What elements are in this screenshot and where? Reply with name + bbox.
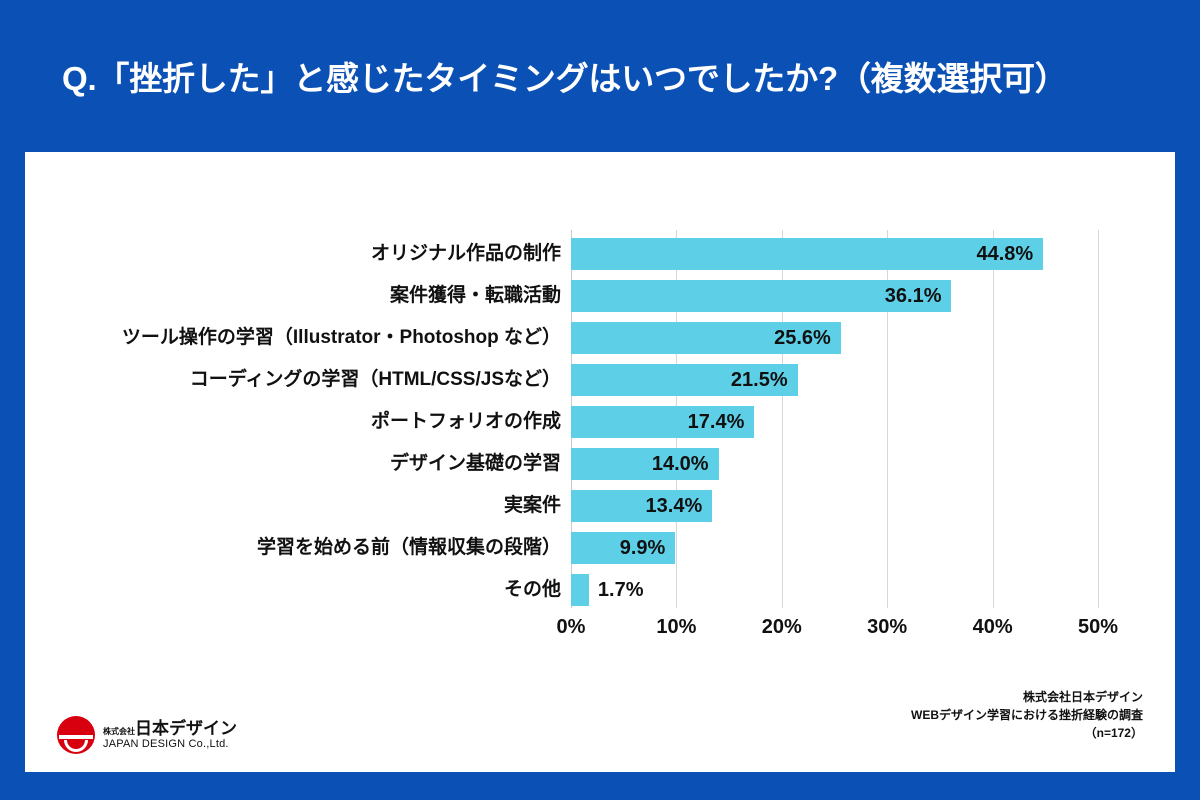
bar[interactable] [571, 574, 589, 606]
category-label: ポートフォリオの作成 [371, 406, 561, 438]
x-tick-label: 20% [762, 616, 802, 639]
plot-area: オリジナル作品の制作44.8%案件獲得・転職活動36.1%ツール操作の学習（Il… [571, 230, 1098, 608]
bar-row[interactable]: その他1.7% [571, 574, 589, 606]
bar-value-label: 21.5% [731, 364, 788, 396]
bar-row[interactable]: 実案件13.4% [571, 490, 712, 522]
bar-value-label: 17.4% [688, 406, 745, 438]
footer-sample-size: （n=172） [911, 724, 1143, 742]
bar-row[interactable]: オリジナル作品の制作44.8% [571, 238, 1043, 270]
bar-row[interactable]: コーディングの学習（HTML/CSS/JSなど）21.5% [571, 364, 798, 396]
company-logo: 株式会社日本デザイン JAPAN DESIGN Co.,Ltd. [57, 716, 237, 754]
x-tick-label: 50% [1078, 616, 1118, 639]
category-label: コーディングの学習（HTML/CSS/JSなど） [190, 364, 561, 396]
category-label: 実案件 [504, 490, 561, 522]
bar-row[interactable]: ポートフォリオの作成17.4% [571, 406, 754, 438]
category-label: 案件獲得・転職活動 [390, 280, 561, 312]
x-tick-label: 10% [656, 616, 696, 639]
category-label: 学習を始める前（情報収集の段階） [257, 532, 561, 564]
bar-value-label: 14.0% [652, 448, 709, 480]
bar-row[interactable]: ツール操作の学習（Illustrator・Photoshop など）25.6% [571, 322, 841, 354]
gridline-50% [1098, 230, 1099, 608]
logo-text: 株式会社日本デザイン JAPAN DESIGN Co.,Ltd. [103, 719, 237, 751]
footer-company: 株式会社日本デザイン [911, 688, 1143, 706]
bar-row[interactable]: 案件獲得・転職活動36.1% [571, 280, 951, 312]
bar-row[interactable]: デザイン基礎の学習14.0% [571, 448, 719, 480]
logo-company-name: 日本デザイン [135, 719, 237, 738]
bar-value-label: 13.4% [646, 490, 703, 522]
bar-value-label: 36.1% [885, 280, 942, 312]
category-label: デザイン基礎の学習 [390, 448, 561, 480]
gridline-40% [993, 230, 994, 608]
bar-value-label: 25.6% [774, 322, 831, 354]
category-label: その他 [504, 574, 561, 606]
footer-survey: WEBデザイン学習における挫折経験の調査 [911, 706, 1143, 724]
japan-design-logo-icon [57, 716, 95, 754]
bar-value-label: 44.8% [976, 238, 1033, 270]
slide-root: Q.「挫折した」と感じたタイミングはいつでしたか?（複数選択可） オリジナル作品… [0, 0, 1200, 800]
title-band: Q.「挫折した」と感じたタイミングはいつでしたか?（複数選択可） [0, 0, 1200, 152]
category-label: オリジナル作品の制作 [371, 238, 561, 270]
logo-band-shape [59, 735, 93, 739]
logo-prefix: 株式会社 [103, 727, 135, 736]
logo-name-en: JAPAN DESIGN Co.,Ltd. [103, 738, 237, 751]
bar-row[interactable]: 学習を始める前（情報収集の段階）9.9% [571, 532, 675, 564]
bar-chart: オリジナル作品の制作44.8%案件獲得・転職活動36.1%ツール操作の学習（Il… [25, 152, 1175, 772]
x-tick-label: 0% [557, 616, 586, 639]
chart-card: オリジナル作品の制作44.8%案件獲得・転職活動36.1%ツール操作の学習（Il… [25, 152, 1175, 772]
logo-bowl-shape [64, 740, 88, 752]
bar-value-label: 9.9% [620, 532, 666, 564]
footer-attribution: 株式会社日本デザイン WEBデザイン学習における挫折経験の調査 （n=172） [911, 688, 1143, 742]
x-tick-label: 40% [973, 616, 1013, 639]
logo-name-jp: 株式会社日本デザイン [103, 719, 237, 739]
bar[interactable] [571, 238, 1043, 270]
bar-value-label: 1.7% [598, 574, 644, 606]
page-title: Q.「挫折した」と感じたタイミングはいつでしたか?（複数選択可） [62, 52, 1068, 100]
category-label: ツール操作の学習（Illustrator・Photoshop など） [122, 322, 561, 354]
x-tick-label: 30% [867, 616, 907, 639]
